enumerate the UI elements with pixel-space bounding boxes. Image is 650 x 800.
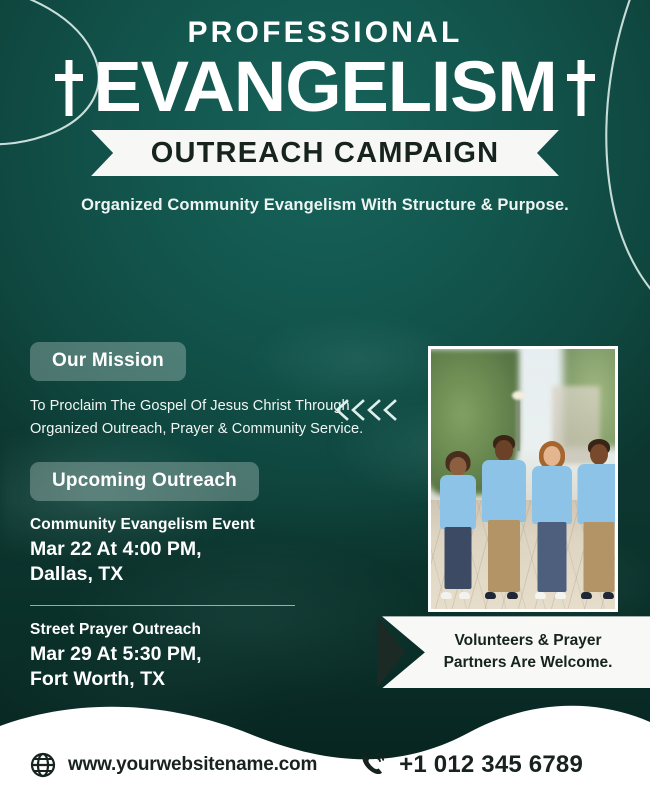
photo-lamp-glow [512,391,525,400]
flyer-poster: PROFESSIONAL EVANGELISM OUTREACH CAMPAIG… [0,0,650,800]
page-title: EVANGELISM [93,52,556,124]
photo-person-shoe [441,592,452,599]
footer: www.yourwebsitename.com +1 012 345 6789 [0,730,650,800]
cross-icon [54,59,84,117]
header-kicker: PROFESSIONAL [0,18,650,48]
outreach-pill-wrap: Upcoming Outreach [30,462,400,501]
volunteer-banner-line2: Partners Are Welcome. [444,652,613,674]
left-column: Our Mission To Proclaim The Gospel Of Je… [30,342,400,692]
photo-person-shoe [581,592,592,599]
event-when-line1: Mar 29 At 5:30 PM, [30,642,400,667]
footer-phone[interactable]: +1 012 345 6789 [359,751,583,779]
outreach-pill: Upcoming Outreach [30,462,259,501]
photo-person-shoe [555,592,566,599]
photo-person-shirt [440,475,476,529]
photo-person-legs [488,520,520,592]
ribbon-label: OUTREACH CAMPAIGN [151,137,500,169]
title-row: EVANGELISM [0,52,650,124]
footer-website-text: www.yourwebsitename.com [68,754,317,776]
event-when: Mar 22 At 4:00 PM, Dallas, TX [30,537,400,587]
event-name: Street Prayer Outreach [30,621,400,639]
volunteers-photo [428,346,618,612]
header-subtitle: Organized Community Evangelism With Stru… [0,196,650,215]
event-when-line2: Fort Worth, TX [30,667,400,692]
photo-person-shoe [603,592,614,599]
footer-phone-text: +1 012 345 6789 [399,751,583,779]
event-name: Community Evangelism Event [30,516,400,534]
photo-person-head [590,444,608,465]
cross-icon [566,59,596,117]
photo-person-shoe [507,592,518,599]
ribbon-wrap: OUTREACH CAMPAIGN [0,130,650,176]
footer-website[interactable]: www.yourwebsitename.com [30,752,317,778]
photo-person [435,451,481,599]
photo-person-shoe [535,592,546,599]
photo-person [477,435,531,599]
photo-person-legs [538,522,567,592]
event-item: Community Evangelism Event Mar 22 At 4:0… [30,516,400,587]
event-when-line1: Mar 22 At 4:00 PM, [30,537,400,562]
photo-person-legs [445,527,472,589]
photo-person-shirt [482,460,526,522]
photo-person-legs [584,522,615,592]
header: PROFESSIONAL EVANGELISM OUTREACH CAMPAIG… [0,0,650,215]
photo-person-shirt [532,466,572,524]
photo-person [573,439,618,599]
event-item: Street Prayer Outreach Mar 29 At 5:30 PM… [30,621,400,692]
photo-person-shoe [485,592,496,599]
event-when-line2: Dallas, TX [30,562,400,587]
photo-person-head [450,457,467,476]
volunteer-banner-text: Volunteers & Prayer Partners Are Welcome… [410,630,623,674]
globe-icon [30,752,56,778]
photo-person-shoe [459,592,470,599]
chevron-left-icon [333,397,405,423]
event-when: Mar 29 At 5:30 PM, Fort Worth, TX [30,642,400,692]
volunteer-banner-line1: Volunteers & Prayer [444,630,613,652]
mission-pill: Our Mission [30,342,186,381]
phone-icon [359,751,387,779]
photo-person [527,441,577,599]
photo-person-head [544,446,561,466]
ribbon-banner: OUTREACH CAMPAIGN [91,130,559,176]
event-divider [30,605,295,606]
photo-person-head [495,440,513,461]
photo-person-shirt [578,464,619,524]
